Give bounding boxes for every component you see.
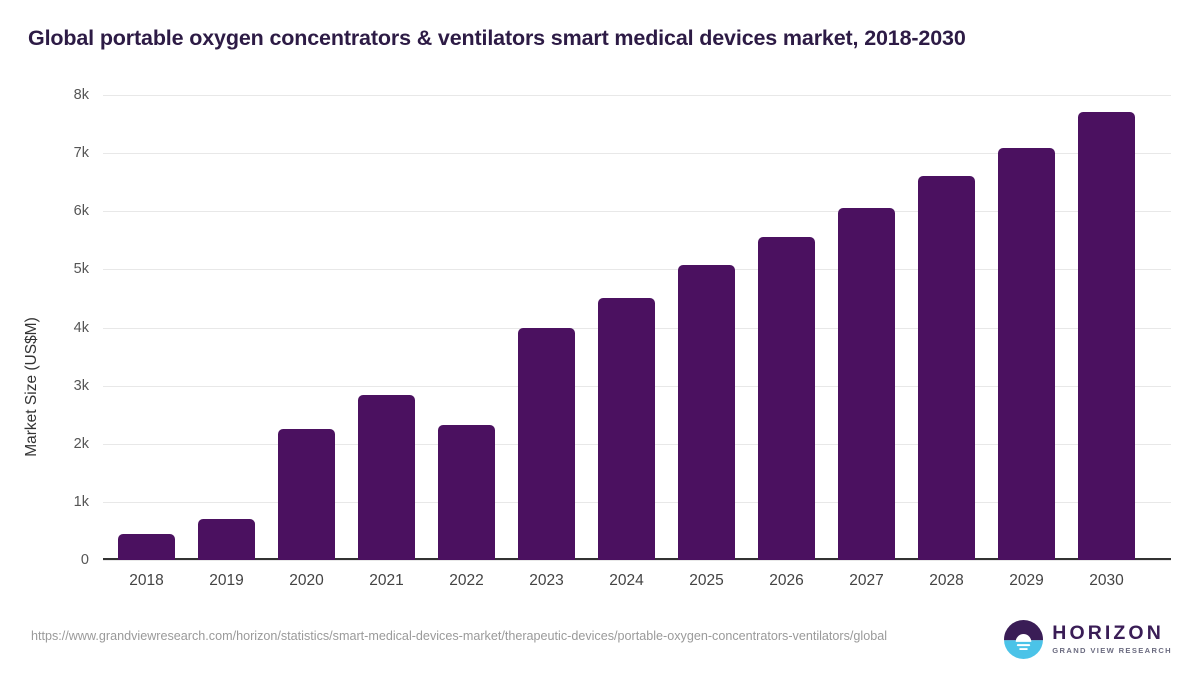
x-tick-label-2019: 2019 (187, 572, 267, 590)
x-tick-label-2025: 2025 (667, 572, 747, 590)
bar-2019[interactable] (198, 519, 255, 560)
x-tick-label-2023: 2023 (507, 572, 587, 590)
bar-2027[interactable] (838, 208, 895, 560)
y-tick-label: 7k (74, 145, 89, 161)
y-tick-label: 2k (74, 436, 89, 452)
y-tick-label: 6k (74, 203, 89, 219)
bar-2024[interactable] (598, 298, 655, 560)
x-tick-label-2022: 2022 (427, 572, 507, 590)
y-tick-label: 1k (74, 494, 89, 510)
x-tick-label-2024: 2024 (587, 572, 667, 590)
chart-card: Global portable oxygen concentrators & v… (0, 0, 1200, 675)
logo-wordmark: HORIZON (1052, 624, 1172, 644)
horizon-logo-icon (1004, 620, 1043, 659)
y-tick-label: 0 (81, 552, 89, 568)
bar-2023[interactable] (518, 328, 575, 561)
y-tick-label: 3k (74, 378, 89, 394)
x-tick-label-2026: 2026 (747, 572, 827, 590)
chart-title: Global portable oxygen concentrators & v… (28, 26, 1168, 51)
y-axis-tick-layer: Market Size (US$M) 01k2k3k4k5k6k7k8k (0, 88, 103, 568)
bar-2029[interactable] (998, 148, 1055, 560)
y-tick-label: 5k (74, 261, 89, 277)
bar-2020[interactable] (278, 429, 335, 560)
bar-2025[interactable] (678, 265, 735, 560)
bar-2018[interactable] (118, 534, 175, 560)
x-tick-label-2028: 2028 (907, 572, 987, 590)
x-tick-label-2029: 2029 (987, 572, 1067, 590)
x-tick-label-2030: 2030 (1067, 572, 1147, 590)
bar-series (103, 88, 1171, 568)
source-url[interactable]: https://www.grandviewresearch.com/horizo… (31, 628, 951, 645)
x-tick-label-2021: 2021 (347, 572, 427, 590)
bar-2022[interactable] (438, 425, 495, 560)
y-axis-title: Market Size (US$M) (23, 187, 41, 587)
bar-2021[interactable] (358, 395, 415, 560)
x-axis-tick-layer: 2018201920202021202220232024202520262027… (103, 572, 1171, 602)
x-tick-label-2020: 2020 (267, 572, 347, 590)
logo-tagline: GRAND VIEW RESEARCH (1052, 647, 1172, 655)
y-tick-label: 4k (74, 320, 89, 336)
horizon-logo[interactable]: HORIZON GRAND VIEW RESEARCH (1004, 620, 1172, 659)
horizon-logo-text: HORIZON GRAND VIEW RESEARCH (1052, 624, 1172, 655)
y-tick-label: 8k (74, 87, 89, 103)
x-tick-label-2018: 2018 (107, 572, 187, 590)
x-tick-label-2027: 2027 (827, 572, 907, 590)
bar-2030[interactable] (1078, 112, 1135, 560)
bar-2028[interactable] (918, 176, 975, 560)
bar-2026[interactable] (758, 237, 815, 560)
